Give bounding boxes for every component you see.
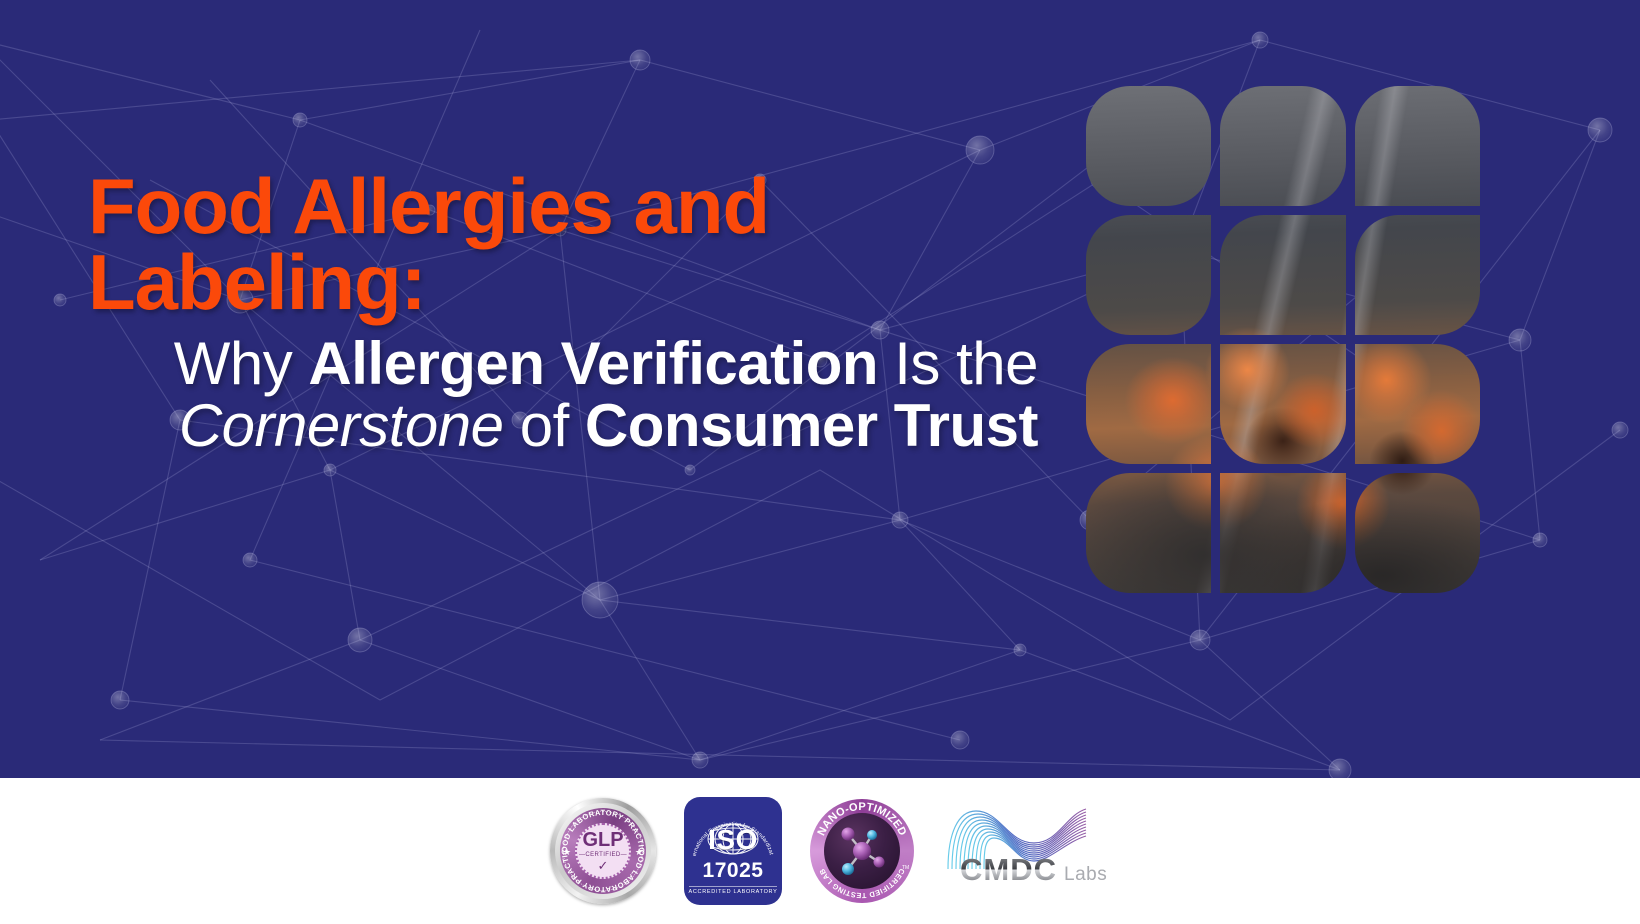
- title-block: Food Allergies and Labeling: Why Allerge…: [88, 168, 1038, 456]
- subtitle-part-0: Why: [174, 330, 309, 397]
- glp-star-right-icon: ★: [635, 847, 643, 858]
- subtitle-part-3: Cornerstone: [179, 392, 504, 459]
- molecule-icon: [810, 799, 914, 903]
- cmdc-labs-logo: CMDC Labs: [942, 803, 1090, 899]
- hero-photo-mosaic: [1086, 86, 1480, 593]
- photo-tile: [1086, 86, 1211, 206]
- check-icon: ✓: [598, 859, 609, 872]
- cmdc-wordmark: CMDC: [960, 854, 1057, 885]
- subtitle-part-1: Allergen Verification: [308, 330, 878, 397]
- photo-tile: [1220, 473, 1345, 593]
- glp-title: GLP: [582, 830, 623, 850]
- subtitle-part-4: of: [504, 392, 585, 459]
- glp-certified-logo: GOOD LABORATORY PRACTICE GOOD LABORATORY…: [550, 798, 656, 904]
- photo-tile: [1220, 86, 1345, 206]
- photo-tile: [1355, 86, 1480, 206]
- hero-section: Food Allergies and Labeling: Why Allerge…: [0, 0, 1640, 778]
- subtitle-part-5: Consumer Trust: [585, 392, 1038, 459]
- photo-tile: [1355, 473, 1480, 593]
- photo-tile: [1355, 344, 1480, 464]
- iso-wordmark: ISO: [700, 826, 766, 854]
- glp-center: GLP —CERTIFIED— ✓: [575, 823, 631, 879]
- certification-logo-bar: GOOD LABORATORY PRACTICE GOOD LABORATORY…: [0, 778, 1640, 924]
- headline: Food Allergies and Labeling:: [88, 168, 1038, 321]
- iso-17025-logo: International Organization for Standardi…: [684, 797, 782, 905]
- subtitle-part-2: Is the: [878, 330, 1038, 397]
- nano-optimized-logo: NANO-OPTIMIZED CERTIFIED TESTING LAB TM: [810, 799, 914, 903]
- glp-star-left-icon: ★: [563, 847, 571, 858]
- cmdc-labs-suffix: Labs: [1064, 865, 1107, 884]
- photo-tile: [1086, 344, 1211, 464]
- globe-icon: ISO: [700, 822, 766, 856]
- cmdc-wordmark-group: CMDC Labs: [960, 854, 1107, 885]
- photo-tile: [1220, 344, 1345, 464]
- subtitle: Why Allergen Verification Is the Corners…: [88, 333, 1038, 457]
- photo-tile: [1220, 215, 1345, 335]
- photo-tile-grid: [1086, 86, 1480, 593]
- photo-tile: [1086, 473, 1211, 593]
- promo-banner: Food Allergies and Labeling: Why Allerge…: [0, 0, 1640, 924]
- photo-tile: [1355, 215, 1480, 335]
- photo-tile: [1086, 215, 1211, 335]
